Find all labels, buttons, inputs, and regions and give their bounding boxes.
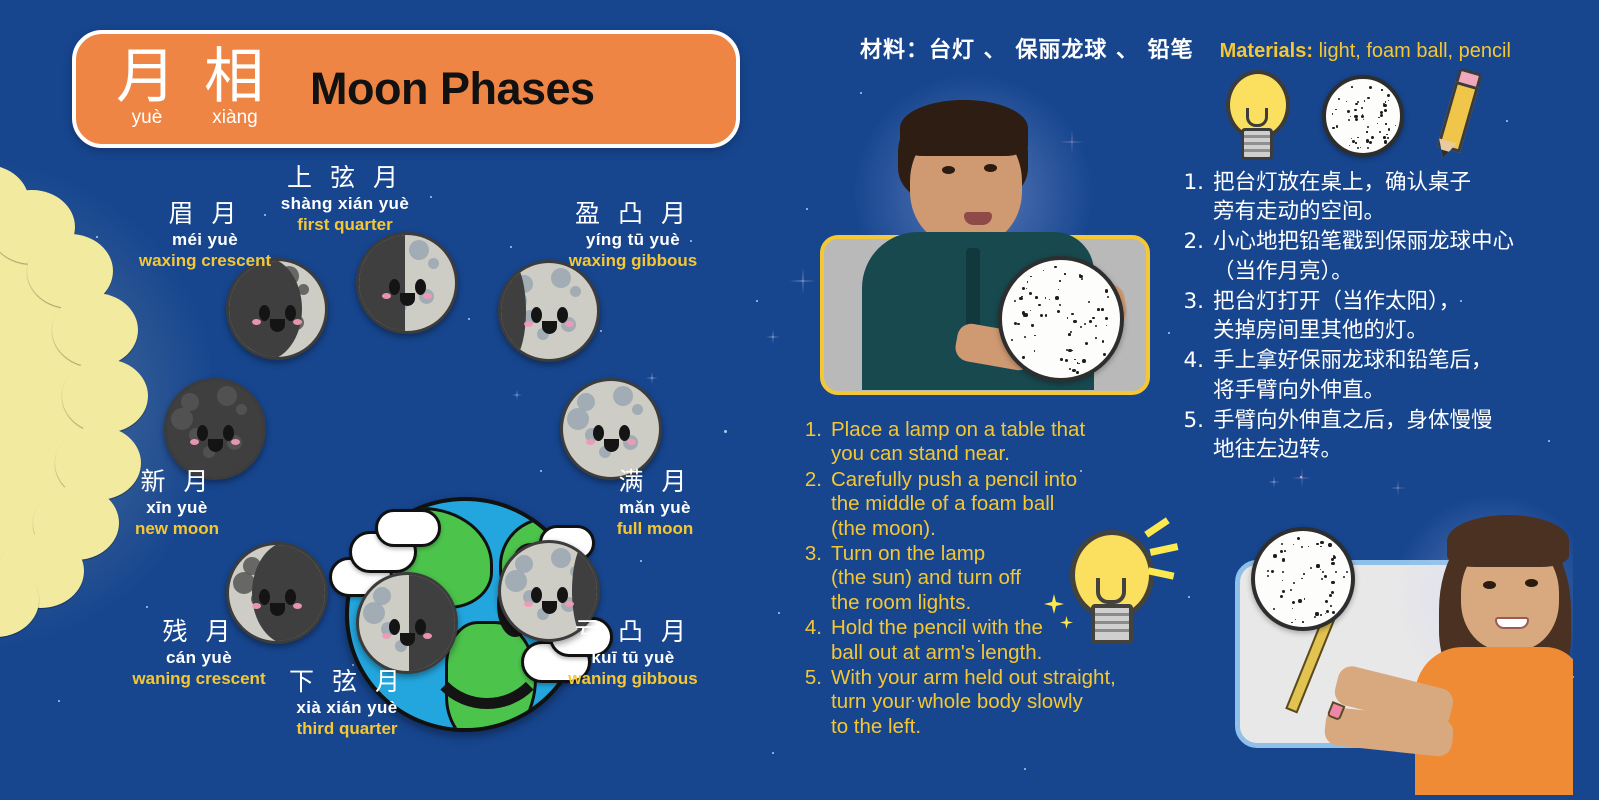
foam-speck xyxy=(1060,358,1063,361)
moon-mouth xyxy=(270,319,285,332)
foam-speck xyxy=(1346,571,1348,573)
foam-speck xyxy=(1348,119,1350,121)
phase-label-waxing-gibbous: 盈 凸 月yíng tū yuèwaxing gibbous xyxy=(508,200,758,271)
foam-speck xyxy=(1024,336,1026,338)
foam-speck xyxy=(1084,323,1086,325)
step-item: 1.Place a lamp on a table thatyou can st… xyxy=(802,418,1142,467)
moon-waxing-gibbous xyxy=(498,260,600,362)
moon-mouth xyxy=(542,321,557,334)
foam-speck xyxy=(1301,546,1303,548)
foam-speck xyxy=(1320,541,1323,544)
star xyxy=(1506,120,1508,122)
foam-speck xyxy=(1360,147,1361,148)
foam-speck xyxy=(1017,323,1019,325)
materials-english-label: Materials: xyxy=(1220,40,1313,62)
foam-speck xyxy=(1073,320,1076,323)
foam-speck xyxy=(1030,276,1031,277)
foam-speck xyxy=(1290,589,1292,591)
foam-speck xyxy=(1385,101,1387,103)
foam-speck xyxy=(1280,550,1283,553)
foam-speck xyxy=(1068,349,1072,353)
foam-speck xyxy=(1369,86,1372,89)
foam-speck xyxy=(1336,125,1338,127)
foam-speck xyxy=(1357,137,1359,139)
foam-speck xyxy=(1101,308,1104,311)
foam-speck xyxy=(1369,141,1372,144)
phase-label-pinyin: cán yuè xyxy=(74,647,324,668)
foam-speck xyxy=(1363,119,1364,120)
foam-speck xyxy=(1346,101,1347,102)
moon-eye-left xyxy=(531,307,542,323)
step-item: 5.手臂向外伸直之后，身体慢慢地往左边转。 xyxy=(1182,406,1542,464)
foam-speck xyxy=(1054,266,1056,268)
foam-speck xyxy=(1267,575,1269,577)
foam-speck xyxy=(1320,569,1321,570)
sparkle-icon xyxy=(1390,480,1406,496)
foam-speck xyxy=(1343,576,1345,578)
phase-label-waning-crescent: 残 月cán yuèwaning crescent xyxy=(74,618,324,689)
foam-speck xyxy=(1321,578,1323,580)
foam-speck xyxy=(1301,578,1303,580)
step-number: 1. xyxy=(802,418,822,467)
foam-speck xyxy=(1351,86,1353,88)
foam-speck xyxy=(1332,127,1335,130)
foam-speck xyxy=(1282,571,1284,573)
moon-mouth xyxy=(208,439,223,452)
foam-speck xyxy=(1366,131,1367,132)
phase-label-pinyin: yíng tū yuè xyxy=(508,229,758,250)
step-text: 把台灯打开（当作太阳），关掉房间里其他的灯。 xyxy=(1213,287,1460,345)
foam-speck xyxy=(1280,595,1283,598)
step-number: 3. xyxy=(802,542,822,615)
foam-speck xyxy=(1078,363,1080,365)
foam-speck xyxy=(1386,134,1388,136)
foam-speck xyxy=(1315,612,1318,615)
foam-speck xyxy=(1357,147,1359,149)
moon-cheek-left xyxy=(382,633,391,639)
foam-speck xyxy=(1273,554,1277,558)
foam-speck xyxy=(1043,270,1044,271)
star xyxy=(1188,596,1190,598)
phase-label-english: third quarter xyxy=(222,718,472,739)
boy-hair-top xyxy=(900,100,1028,156)
moon-third-quarter xyxy=(356,572,458,674)
foam-speck xyxy=(1034,350,1035,351)
foam-speck xyxy=(1282,590,1286,594)
phase-label-han: 盈 凸 月 xyxy=(508,200,758,229)
materials-english: Materials: light, foam ball, pencil xyxy=(1220,40,1511,63)
foam-speck xyxy=(1080,326,1082,328)
step-number: 4. xyxy=(1182,346,1204,404)
moon-face xyxy=(563,381,659,477)
foam-speck xyxy=(1292,608,1294,610)
foam-speck xyxy=(1364,100,1365,101)
foam-speck xyxy=(1331,591,1334,594)
boy-eye-left xyxy=(942,166,955,174)
foam-speck xyxy=(1331,581,1334,584)
foam-speck xyxy=(1388,128,1390,130)
title-han-char: 相 xyxy=(204,49,266,106)
sparkle-icon xyxy=(1268,476,1280,488)
foam-speck xyxy=(1326,610,1329,613)
foam-speck xyxy=(1388,100,1389,101)
foam-speck xyxy=(1332,611,1335,614)
foam-speck xyxy=(1328,543,1332,547)
foam-speck xyxy=(1335,571,1337,573)
moon-cheek-right xyxy=(293,603,302,609)
foam-speck xyxy=(1330,605,1332,607)
phase-label-english: waning crescent xyxy=(74,668,324,689)
phase-label-pinyin: shàng xián yuè xyxy=(220,193,470,214)
foam-speck xyxy=(1310,567,1312,569)
phase-label-pinyin: xià xián yuè xyxy=(222,697,472,718)
foam-speck xyxy=(1380,114,1383,117)
foam-speck xyxy=(1059,280,1060,281)
moon-phase-wheel: 眉 月méi yuèwaxing crescent上 弦 月shàng xián… xyxy=(60,150,780,790)
foam-speck xyxy=(1040,314,1043,317)
step-item: 2.小心地把铅笔戳到保丽龙球中心（当作月亮）。 xyxy=(1182,227,1542,285)
glowing-bulb-icon xyxy=(1066,530,1150,648)
photo-boy xyxy=(838,60,1138,390)
boy-mouth xyxy=(964,212,992,225)
foam-ball-held-by-boy xyxy=(998,256,1124,382)
step-item: 5.With your arm held out straight,turn y… xyxy=(802,666,1142,739)
foam-speck xyxy=(1045,297,1047,299)
step-number: 3. xyxy=(1182,287,1204,345)
foam-ball-held-by-girl xyxy=(1251,527,1355,631)
foam-speck xyxy=(1324,575,1327,578)
phase-label-han: 残 月 xyxy=(74,618,324,647)
foam-speck xyxy=(1271,570,1274,573)
foam-speck xyxy=(1320,614,1322,616)
step-text: Carefully push a pencil intothe middle o… xyxy=(831,468,1077,541)
foam-speck xyxy=(1019,297,1022,300)
cloud-puff xyxy=(375,509,441,547)
moon-face xyxy=(229,261,325,357)
foam-speck xyxy=(1281,543,1283,545)
moon-eye-left xyxy=(531,587,542,603)
foam-speck xyxy=(1291,622,1293,624)
moon-cheek-left xyxy=(382,293,391,299)
foam-speck xyxy=(1379,131,1381,133)
foam-speck xyxy=(1361,115,1364,118)
moon-eye-left xyxy=(259,589,270,605)
foam-speck xyxy=(1097,308,1100,311)
title-han-pinyin: xiàng xyxy=(212,108,257,129)
foam-speck xyxy=(1282,558,1285,561)
foam-ball-icon xyxy=(1322,75,1404,157)
photo-girl xyxy=(1243,495,1573,795)
foam-speck xyxy=(1011,339,1013,341)
foam-speck xyxy=(1102,340,1105,343)
moon-first-quarter xyxy=(356,232,458,334)
bulb-ray xyxy=(1144,517,1169,537)
girl-eye-left xyxy=(1483,581,1496,589)
foam-speck xyxy=(1314,616,1316,618)
moon-mouth xyxy=(270,603,285,616)
foam-speck xyxy=(1293,582,1295,584)
foam-speck xyxy=(1347,110,1350,113)
moon-new-moon xyxy=(164,378,266,480)
foam-speck xyxy=(1085,342,1088,345)
foam-speck xyxy=(1322,571,1324,573)
phase-label-han: 满 月 xyxy=(530,468,780,497)
foam-speck xyxy=(1284,550,1286,552)
light-bulb-icon xyxy=(1222,70,1286,162)
moon-eye-left xyxy=(389,279,400,295)
foam-speck xyxy=(1082,359,1086,363)
foam-speck xyxy=(1026,288,1027,289)
pencil-icon xyxy=(1427,66,1482,167)
title-han-0: 月 yuè xyxy=(116,49,178,129)
foam-speck xyxy=(1031,324,1033,326)
moon-cheek-right xyxy=(423,293,432,299)
step-text: Place a lamp on a table thatyou can stan… xyxy=(831,418,1085,467)
step-number: 2. xyxy=(1182,227,1204,285)
foam-speck xyxy=(1076,371,1079,374)
step-text: 把台灯放在桌上，确认桌子旁有走动的空间。 xyxy=(1213,168,1471,226)
step-number: 5. xyxy=(802,666,822,739)
phase-label-english: first quarter xyxy=(220,214,470,235)
moon-eye-left xyxy=(389,619,400,635)
phase-label-english: full moon xyxy=(530,518,780,539)
moon-face xyxy=(359,235,455,331)
foam-speck xyxy=(1057,310,1060,313)
step-number: 5. xyxy=(1182,406,1204,464)
foam-speck xyxy=(1377,123,1378,124)
foam-speck xyxy=(1045,314,1047,316)
moon-cheek-right xyxy=(423,633,432,639)
title-han-1: 相 xiàng xyxy=(204,49,266,129)
foam-speck xyxy=(1354,109,1357,112)
phase-label-pinyin: kuī tū yuè xyxy=(508,647,758,668)
phase-label-new-moon: 新 月xīn yuènew moon xyxy=(52,468,302,539)
foam-speck xyxy=(1354,115,1357,118)
step-text: 小心地把铅笔戳到保丽龙球中心（当作月亮）。 xyxy=(1213,227,1514,285)
moon-cheek-right xyxy=(565,321,574,327)
foam-speck xyxy=(1065,359,1068,362)
foam-speck xyxy=(1367,126,1369,128)
step-text: With your arm held out straight,turn you… xyxy=(831,666,1116,739)
foam-speck xyxy=(1316,564,1319,567)
foam-speck xyxy=(1297,537,1300,540)
foam-speck xyxy=(1081,278,1083,280)
foam-speck xyxy=(1395,125,1396,126)
foam-speck xyxy=(1273,608,1275,610)
moon-eye-left xyxy=(197,425,208,441)
title-han-pinyin: yuè xyxy=(132,108,163,129)
foam-speck xyxy=(1316,543,1319,546)
foam-speck xyxy=(1302,621,1304,623)
foam-speck xyxy=(1295,619,1296,620)
foam-speck xyxy=(1095,337,1097,339)
foam-speck xyxy=(1058,289,1059,290)
sparkle-icon xyxy=(790,268,816,294)
foam-speck xyxy=(1107,296,1109,298)
foam-speck xyxy=(1055,296,1059,300)
foam-speck xyxy=(1304,598,1305,599)
step-item: 4.手上拿好保丽龙球和铅笔后，将手臂向外伸直。 xyxy=(1182,346,1542,404)
foam-speck xyxy=(1064,273,1065,274)
foam-speck xyxy=(1367,97,1369,99)
foam-speck xyxy=(1105,289,1109,293)
moon-cheek-left xyxy=(190,439,199,445)
foam-speck xyxy=(1089,320,1092,323)
foam-speck xyxy=(1355,103,1357,105)
foam-speck xyxy=(1022,356,1024,358)
foam-speck xyxy=(1355,142,1356,143)
bulb-ray xyxy=(1150,543,1179,556)
materials-icons xyxy=(1222,68,1470,164)
foam-speck xyxy=(1298,599,1302,603)
moon-cheek-right xyxy=(231,439,240,445)
foam-speck xyxy=(1367,147,1369,149)
phase-label-waning-gibbous: 亏 凸 月kuī tū yuèwaning gibbous xyxy=(508,618,758,689)
star xyxy=(1168,332,1170,334)
foam-speck xyxy=(1059,304,1061,306)
foam-speck xyxy=(1024,313,1027,316)
moon-mouth xyxy=(542,601,557,614)
foam-speck xyxy=(1384,140,1388,144)
moon-cheek-right xyxy=(293,319,302,325)
foam-speck xyxy=(1092,317,1094,319)
star xyxy=(806,208,808,210)
foam-speck xyxy=(1068,333,1071,336)
foam-speck xyxy=(1095,325,1097,327)
foam-speck xyxy=(1338,98,1340,100)
foam-speck xyxy=(1074,359,1075,360)
foam-speck xyxy=(1079,275,1082,278)
step-text: Hold the pencil with theball out at arm'… xyxy=(831,616,1043,665)
step-number: 1. xyxy=(1182,168,1204,226)
foam-speck xyxy=(1361,107,1363,109)
foam-speck xyxy=(1320,546,1321,547)
foam-speck xyxy=(1335,109,1337,111)
phase-label-english: new moon xyxy=(52,518,302,539)
phase-label-han: 上 弦 月 xyxy=(220,164,470,193)
phase-label-han: 亏 凸 月 xyxy=(508,618,758,647)
step-item: 1.把台灯放在桌上，确认桌子旁有走动的空间。 xyxy=(1182,168,1542,226)
foam-speck xyxy=(1349,145,1350,146)
phase-label-pinyin: mǎn yuè xyxy=(530,497,780,518)
moon-waxing-crescent xyxy=(226,258,328,360)
title-english: Moon Phases xyxy=(310,63,595,115)
foam-speck xyxy=(1030,310,1031,311)
foam-speck xyxy=(1071,313,1074,316)
moon-eye-left xyxy=(259,305,270,321)
moon-face xyxy=(359,575,455,671)
foam-speck xyxy=(1106,325,1107,326)
foam-speck xyxy=(1069,368,1071,370)
foam-speck xyxy=(1293,544,1294,545)
foam-speck xyxy=(1371,136,1374,139)
foam-speck xyxy=(1035,296,1038,299)
moon-full-moon xyxy=(560,378,662,480)
materials-english-list: light, foam ball, pencil xyxy=(1313,40,1511,62)
foam-speck xyxy=(1325,613,1326,614)
title-han-char: 月 xyxy=(116,49,178,106)
phase-label-pinyin: xīn yuè xyxy=(52,497,302,518)
moon-cheek-left xyxy=(524,601,533,607)
phase-label-english: waxing crescent xyxy=(80,250,330,271)
foam-speck xyxy=(1332,113,1333,114)
moon-mouth xyxy=(400,293,415,306)
foam-speck xyxy=(1027,281,1029,283)
foam-speck xyxy=(1387,137,1389,139)
foam-speck xyxy=(1355,118,1358,121)
foam-speck xyxy=(1034,335,1035,336)
instructions-chinese: 1.把台灯放在桌上，确认桌子旁有走动的空间。2.小心地把铅笔戳到保丽龙球中心（当… xyxy=(1182,168,1542,465)
phase-label-first-quarter: 上 弦 月shàng xián yuèfirst quarter xyxy=(220,164,470,235)
foam-speck xyxy=(1282,580,1284,582)
moon-phases-poster: 月 yuè 相 xiàng Moon Phases xyxy=(0,0,1599,800)
foam-speck xyxy=(1029,292,1032,295)
moon-face xyxy=(167,381,263,477)
moon-cheek-left xyxy=(252,603,261,609)
foam-speck xyxy=(1308,546,1309,547)
step-text: 手臂向外伸直之后，身体慢慢地往左边转。 xyxy=(1213,406,1493,464)
moon-cheek-left xyxy=(524,321,533,327)
foam-speck xyxy=(1378,117,1379,118)
title-banner: 月 yuè 相 xiàng Moon Phases xyxy=(72,30,740,148)
phase-label-han: 新 月 xyxy=(52,468,302,497)
star xyxy=(1548,440,1550,442)
girl-eye-right xyxy=(1525,579,1538,587)
step-number: 4. xyxy=(802,616,822,665)
step-item: 3.把台灯打开（当作太阳），关掉房间里其他的灯。 xyxy=(1182,287,1542,345)
foam-speck xyxy=(1383,136,1386,139)
girl-hair-top xyxy=(1447,515,1569,567)
phase-label-full-moon: 满 月mǎn yuèfull moon xyxy=(530,468,780,539)
moon-cheek-left xyxy=(586,439,595,445)
moon-face xyxy=(501,263,597,359)
foam-speck xyxy=(1325,600,1328,603)
star xyxy=(1024,768,1026,770)
moon-cheek-right xyxy=(565,601,574,607)
step-text: 手上拿好保丽龙球和铅笔后，将手臂向外伸直。 xyxy=(1213,346,1493,404)
phase-label-english: waning gibbous xyxy=(508,668,758,689)
moon-mouth xyxy=(604,439,619,452)
foam-speck xyxy=(1384,109,1387,112)
step-number: 2. xyxy=(802,468,822,541)
moon-cheek-right xyxy=(627,439,636,445)
foam-speck xyxy=(1329,594,1333,598)
moon-cheek-left xyxy=(252,319,261,325)
foam-speck xyxy=(1351,138,1352,139)
step-text: Turn on the lamp(the sun) and turn offth… xyxy=(831,542,1021,615)
girl-smile xyxy=(1495,617,1529,629)
foam-speck xyxy=(1267,570,1269,572)
foam-speck xyxy=(1103,353,1106,356)
sparkle-icon xyxy=(1292,468,1312,488)
foam-speck xyxy=(1105,317,1108,320)
foam-speck xyxy=(1049,299,1050,300)
foam-speck xyxy=(1350,116,1351,117)
foam-speck xyxy=(1292,601,1295,604)
moon-eye-left xyxy=(593,425,604,441)
foam-speck xyxy=(1380,111,1383,114)
foam-speck xyxy=(1014,300,1016,302)
foam-speck xyxy=(1381,89,1382,90)
foam-speck xyxy=(1022,287,1025,290)
boy-eye-right xyxy=(984,164,997,172)
foam-speck xyxy=(1038,304,1041,307)
title-chinese: 月 yuè 相 xiàng xyxy=(116,49,266,129)
moon-mouth xyxy=(400,633,415,646)
foam-speck xyxy=(1088,301,1090,303)
foam-speck xyxy=(1303,573,1305,575)
phase-label-english: waxing gibbous xyxy=(508,250,758,271)
